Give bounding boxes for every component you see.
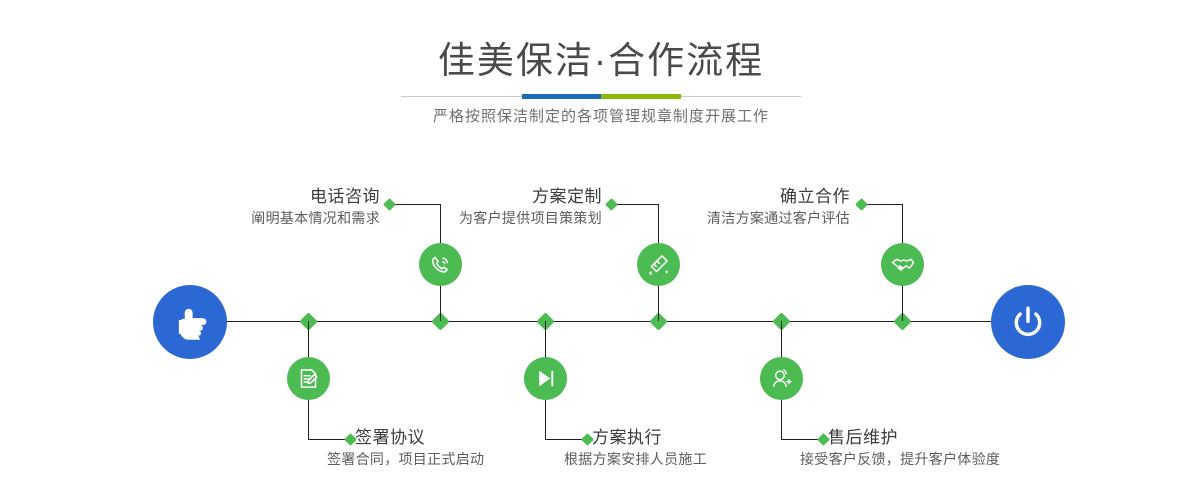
play-forward-icon bbox=[533, 366, 558, 391]
page-subtitle: 严格按照保洁制定的各项管理规章制度开展工作 bbox=[0, 105, 1202, 129]
headset-add-icon bbox=[769, 366, 794, 391]
step-name-5: 确立合作 bbox=[650, 186, 850, 208]
step-label-1: 电话咨询 阐明基本情况和需求 bbox=[180, 186, 380, 228]
step-label-3: 方案定制 为客户提供项目策策划 bbox=[402, 186, 602, 228]
step-node-2[interactable] bbox=[287, 357, 330, 400]
handshake-icon bbox=[890, 252, 916, 278]
phone-call-icon bbox=[428, 252, 453, 277]
timeline-start-cap bbox=[153, 285, 227, 359]
step-label-2: 签署协议 签署合同，项目正式启动 bbox=[355, 427, 595, 469]
step-name-1: 电话咨询 bbox=[180, 186, 380, 208]
step-node-6[interactable] bbox=[760, 357, 803, 400]
step-node-4[interactable] bbox=[524, 357, 567, 400]
step-name-4: 方案执行 bbox=[592, 427, 842, 449]
connector-tip-5 bbox=[855, 198, 868, 211]
step-label-5: 确立合作 清洁方案通过客户评估 bbox=[650, 186, 850, 228]
timeline-end-cap bbox=[991, 285, 1065, 359]
pointing-hand-icon bbox=[169, 301, 211, 343]
step-name-2: 签署协议 bbox=[355, 427, 595, 449]
document-edit-icon bbox=[296, 366, 321, 391]
step-label-6: 售后维护 接受客户反馈，提升客户体验度 bbox=[828, 427, 1088, 469]
title-divider bbox=[401, 94, 801, 99]
step-node-5[interactable] bbox=[881, 243, 924, 286]
connector-tip-1 bbox=[383, 198, 396, 211]
page-title: 佳美保洁·合作流程 bbox=[0, 38, 1202, 84]
step-node-1[interactable] bbox=[419, 243, 462, 286]
step-desc-1: 阐明基本情况和需求 bbox=[180, 208, 380, 228]
step-name-3: 方案定制 bbox=[402, 186, 602, 208]
divider-accent-green bbox=[601, 94, 681, 99]
step-desc-5: 清洁方案通过客户评估 bbox=[650, 208, 850, 228]
step-name-6: 售后维护 bbox=[828, 427, 1088, 449]
power-icon bbox=[1006, 300, 1050, 344]
flow-infographic: 佳美保洁·合作流程 严格按照保洁制定的各项管理规章制度开展工作 bbox=[0, 0, 1202, 502]
pencil-ruler-icon bbox=[646, 252, 671, 277]
step-desc-3: 为客户提供项目策策划 bbox=[402, 208, 602, 228]
divider-accent-blue bbox=[522, 94, 601, 99]
step-desc-2: 签署合同，项目正式启动 bbox=[327, 449, 595, 469]
step-node-3[interactable] bbox=[637, 243, 680, 286]
step-desc-6: 接受客户反馈，提升客户体验度 bbox=[800, 449, 1088, 469]
connector-tip-3 bbox=[605, 198, 618, 211]
